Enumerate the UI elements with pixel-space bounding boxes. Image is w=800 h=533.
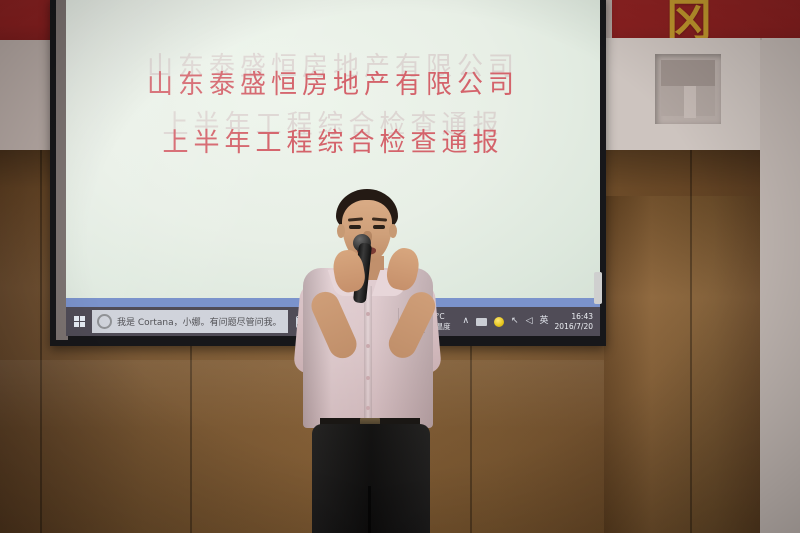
wood-wall-right <box>604 196 762 533</box>
photo-scene: 冈 印 山东泰盛恒房地产有限公司 上半年工程综合检查通报 山东泰盛恒房地产有限公… <box>0 0 800 533</box>
wood-seam <box>40 150 42 533</box>
shirt-button <box>366 406 370 410</box>
wood-seam <box>690 150 692 533</box>
eye-right <box>373 225 385 229</box>
slide-title: 山东泰盛恒房地产有限公司 <box>66 64 600 101</box>
cortana-icon <box>97 314 112 329</box>
network-icon[interactable] <box>476 318 487 326</box>
ear-left <box>337 224 345 238</box>
shirt-button <box>366 312 370 316</box>
screen-bezel-knob <box>594 272 602 304</box>
trousers <box>312 424 430 533</box>
pin-icon[interactable]: ↖ <box>511 317 519 326</box>
far-right-wall <box>760 40 800 533</box>
eye-left <box>349 225 361 229</box>
volume-icon[interactable]: ◁ <box>526 317 533 326</box>
windows-logo-icon <box>74 316 85 327</box>
wall-niche-pillar <box>684 86 696 118</box>
system-tray: ∧ ↖ ◁ 英 <box>456 317 554 327</box>
update-icon[interactable] <box>494 317 504 327</box>
banner-text: 冈 印 <box>666 0 800 42</box>
clock-time: 16:43 <box>555 312 593 322</box>
ear-right <box>389 224 397 238</box>
shirt-button <box>366 344 370 348</box>
clock-date: 2016/7/20 <box>555 322 593 332</box>
taskbar-clock[interactable]: 16:43 2016/7/20 <box>555 312 600 332</box>
start-button[interactable] <box>66 316 92 327</box>
trouser-seam <box>368 486 371 533</box>
cortana-search-input[interactable]: 我是 Cortana，小娜。有问题尽管问我。 <box>92 310 288 333</box>
ime-language-icon[interactable]: 英 <box>540 317 549 326</box>
cortana-placeholder-text: 我是 Cortana，小娜。有问题尽管问我。 <box>117 315 282 328</box>
chevron-up-icon[interactable]: ∧ <box>462 317 469 326</box>
slide-subtitle: 上半年工程综合检查通报 <box>66 122 600 159</box>
shirt-button <box>366 376 370 380</box>
